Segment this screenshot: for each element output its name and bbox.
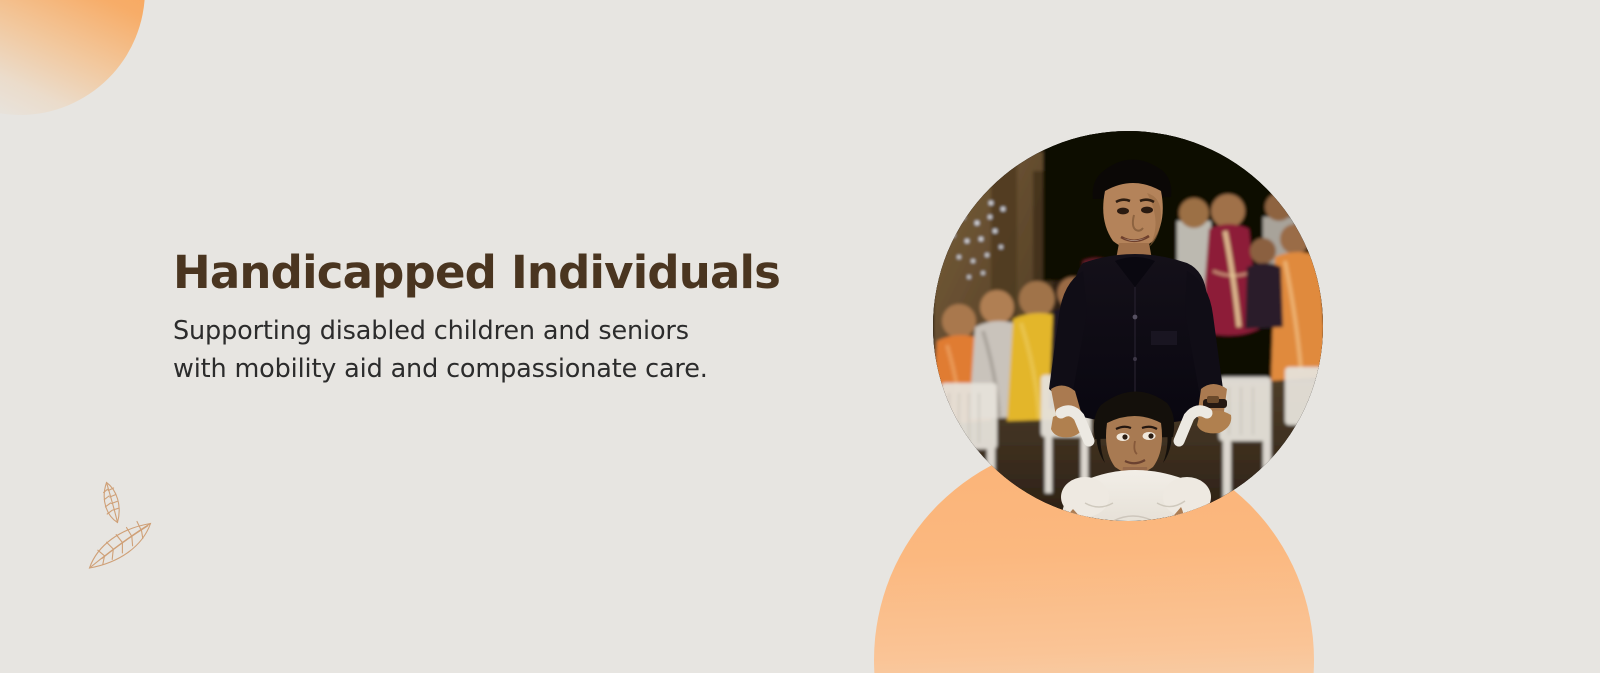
page-subtitle: Supporting disabled children and seniors… xyxy=(173,313,863,388)
circular-photo xyxy=(933,131,1323,521)
hero-text-block: Handicapped Individuals Supporting disab… xyxy=(173,246,873,388)
orange-gradient-circle-top-left xyxy=(0,0,145,115)
leaf-line-art-icon xyxy=(62,476,170,584)
photo-illustration xyxy=(933,131,1323,521)
subtitle-line-1: Supporting disabled children and seniors xyxy=(173,313,863,350)
hero-banner: Handicapped Individuals Supporting disab… xyxy=(0,0,1600,673)
subtitle-line-2: with mobility aid and compassionate care… xyxy=(173,351,863,388)
page-title: Handicapped Individuals xyxy=(173,246,873,299)
